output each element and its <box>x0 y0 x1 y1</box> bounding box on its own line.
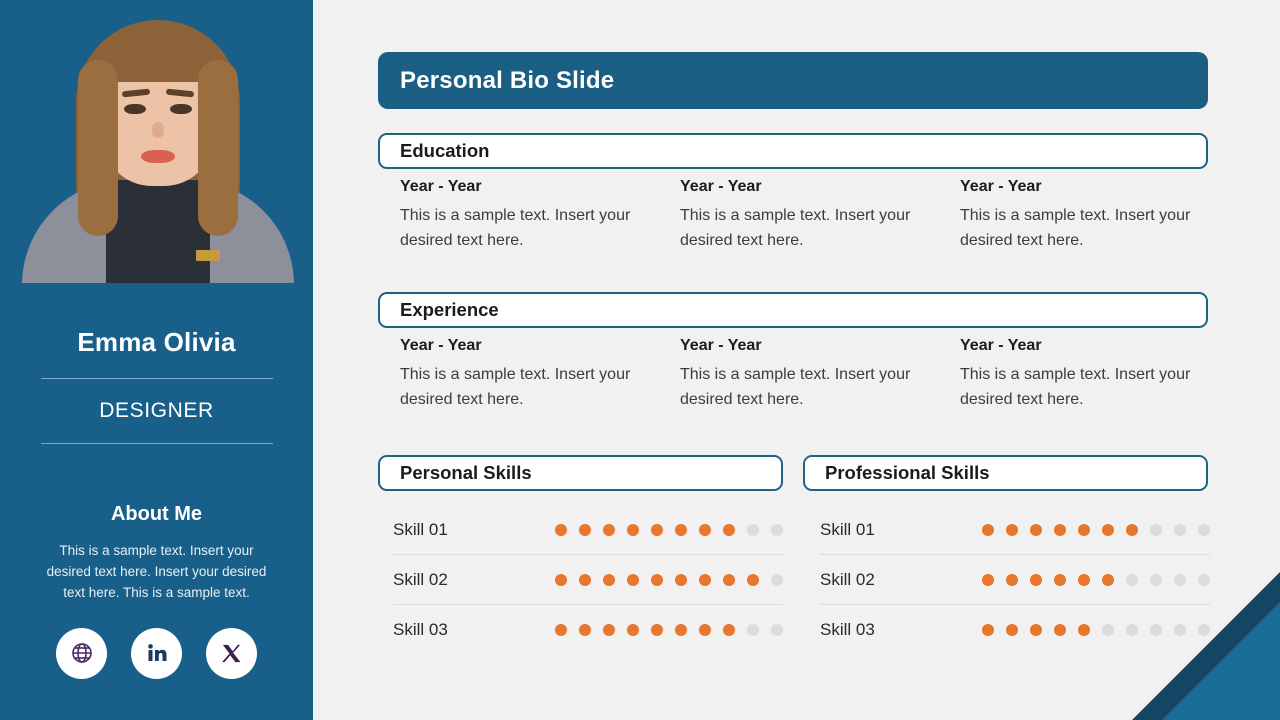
skill-row: Skill 01 <box>393 505 783 555</box>
rating-dot-filled <box>627 524 639 536</box>
skill-label: Skill 01 <box>820 520 982 540</box>
rating-dot-filled <box>579 624 591 636</box>
slide-title-bar: Personal Bio Slide <box>378 52 1208 109</box>
rating-dot-empty <box>771 574 783 586</box>
x-icon[interactable] <box>206 628 257 679</box>
social-links <box>56 628 257 679</box>
skill-row: Skill 03 <box>393 605 783 655</box>
rating-dot-filled <box>675 524 687 536</box>
rating-dot-filled <box>651 574 663 586</box>
bio-slide: Emma Olivia DESIGNER About Me This is a … <box>0 0 1280 720</box>
rating-dot-filled <box>1054 574 1066 586</box>
rating-dot-filled <box>603 574 615 586</box>
rating-dot-filled <box>982 624 994 636</box>
skill-rating <box>982 524 1210 536</box>
personal-skills-list: Skill 01Skill 02Skill 03 <box>393 505 783 655</box>
rating-dot-filled <box>627 624 639 636</box>
rating-dot-filled <box>723 624 735 636</box>
profile-name: Emma Olivia <box>77 327 235 358</box>
sidebar: Emma Olivia DESIGNER About Me This is a … <box>0 0 313 720</box>
profile-photo-container <box>0 0 313 283</box>
education-entry: Year - Year This is a sample text. Inser… <box>938 178 1218 254</box>
skill-row: Skill 01 <box>820 505 1210 555</box>
rating-dot-filled <box>555 624 567 636</box>
rating-dot-filled <box>982 574 994 586</box>
rating-dot-filled <box>555 574 567 586</box>
rating-dot-filled <box>1006 574 1018 586</box>
rating-dot-filled <box>651 624 663 636</box>
experience-entry: Year - Year This is a sample text. Inser… <box>658 337 938 413</box>
rating-dot-filled <box>1054 524 1066 536</box>
experience-entry: Year - Year This is a sample text. Inser… <box>938 337 1218 413</box>
skill-label: Skill 01 <box>393 520 555 540</box>
education-entry: Year - Year This is a sample text. Inser… <box>658 178 938 254</box>
rating-dot-empty <box>771 624 783 636</box>
entry-year: Year - Year <box>680 337 938 355</box>
rating-dot-filled <box>1030 524 1042 536</box>
rating-dot-filled <box>982 524 994 536</box>
rating-dot-filled <box>1030 624 1042 636</box>
skill-row: Skill 02 <box>393 555 783 605</box>
education-heading: Education <box>400 140 489 162</box>
skill-rating <box>555 624 783 636</box>
entry-year: Year - Year <box>960 337 1218 355</box>
page-title: Personal Bio Slide <box>400 67 614 95</box>
profile-photo <box>18 4 298 283</box>
entry-text: This is a sample text. Insert your desir… <box>960 363 1198 413</box>
personal-skills-heading: Personal Skills <box>400 462 532 484</box>
experience-heading: Experience <box>400 299 499 321</box>
entry-year: Year - Year <box>400 178 658 196</box>
section-header-education: Education <box>378 133 1208 169</box>
divider-top <box>41 378 273 379</box>
rating-dot-filled <box>1102 574 1114 586</box>
skill-rating <box>555 524 783 536</box>
about-me-heading: About Me <box>111 503 202 526</box>
entry-text: This is a sample text. Insert your desir… <box>400 204 638 254</box>
entry-year: Year - Year <box>960 178 1218 196</box>
globe-icon[interactable] <box>56 628 107 679</box>
main-panel: Personal Bio Slide Education Year - Year… <box>313 0 1280 720</box>
skill-label: Skill 02 <box>820 570 982 590</box>
rating-dot-empty <box>1198 524 1210 536</box>
skill-label: Skill 03 <box>820 620 982 640</box>
rating-dot-filled <box>1078 574 1090 586</box>
rating-dot-filled <box>579 574 591 586</box>
rating-dot-empty <box>1102 624 1114 636</box>
rating-dot-filled <box>1078 624 1090 636</box>
section-header-personal-skills: Personal Skills <box>378 455 783 491</box>
rating-dot-empty <box>747 524 759 536</box>
rating-dot-filled <box>675 574 687 586</box>
rating-dot-empty <box>747 624 759 636</box>
entry-text: This is a sample text. Insert your desir… <box>680 204 918 254</box>
rating-dot-filled <box>603 524 615 536</box>
rating-dot-filled <box>603 624 615 636</box>
profile-role: DESIGNER <box>99 399 214 423</box>
professional-skills-heading: Professional Skills <box>825 462 990 484</box>
rating-dot-filled <box>747 574 759 586</box>
experience-columns: Year - Year This is a sample text. Inser… <box>378 337 1218 413</box>
rating-dot-empty <box>1150 524 1162 536</box>
experience-entry: Year - Year This is a sample text. Inser… <box>378 337 658 413</box>
rating-dot-filled <box>1054 624 1066 636</box>
section-header-experience: Experience <box>378 292 1208 328</box>
skill-rating <box>555 574 783 586</box>
entry-text: This is a sample text. Insert your desir… <box>680 363 918 413</box>
rating-dot-empty <box>1174 524 1186 536</box>
entry-text: This is a sample text. Insert your desir… <box>960 204 1198 254</box>
skill-label: Skill 02 <box>393 570 555 590</box>
rating-dot-filled <box>699 624 711 636</box>
entry-year: Year - Year <box>400 337 658 355</box>
rating-dot-filled <box>699 574 711 586</box>
rating-dot-empty <box>771 524 783 536</box>
rating-dot-filled <box>1006 624 1018 636</box>
rating-dot-filled <box>1078 524 1090 536</box>
linkedin-icon[interactable] <box>131 628 182 679</box>
skill-label: Skill 03 <box>393 620 555 640</box>
rating-dot-filled <box>1126 524 1138 536</box>
education-entry: Year - Year This is a sample text. Inser… <box>378 178 658 254</box>
rating-dot-filled <box>1102 524 1114 536</box>
rating-dot-filled <box>1006 524 1018 536</box>
rating-dot-filled <box>651 524 663 536</box>
rating-dot-filled <box>675 624 687 636</box>
entry-text: This is a sample text. Insert your desir… <box>400 363 638 413</box>
divider-bottom <box>41 443 273 444</box>
rating-dot-filled <box>723 524 735 536</box>
rating-dot-filled <box>579 524 591 536</box>
rating-dot-filled <box>627 574 639 586</box>
about-me-text: This is a sample text. Insert your desir… <box>42 541 272 604</box>
education-columns: Year - Year This is a sample text. Inser… <box>378 178 1218 254</box>
rating-dot-filled <box>699 524 711 536</box>
section-header-professional-skills: Professional Skills <box>803 455 1208 491</box>
rating-dot-filled <box>1030 574 1042 586</box>
entry-year: Year - Year <box>680 178 938 196</box>
corner-decoration-light <box>1162 602 1280 720</box>
rating-dot-filled <box>555 524 567 536</box>
rating-dot-filled <box>723 574 735 586</box>
